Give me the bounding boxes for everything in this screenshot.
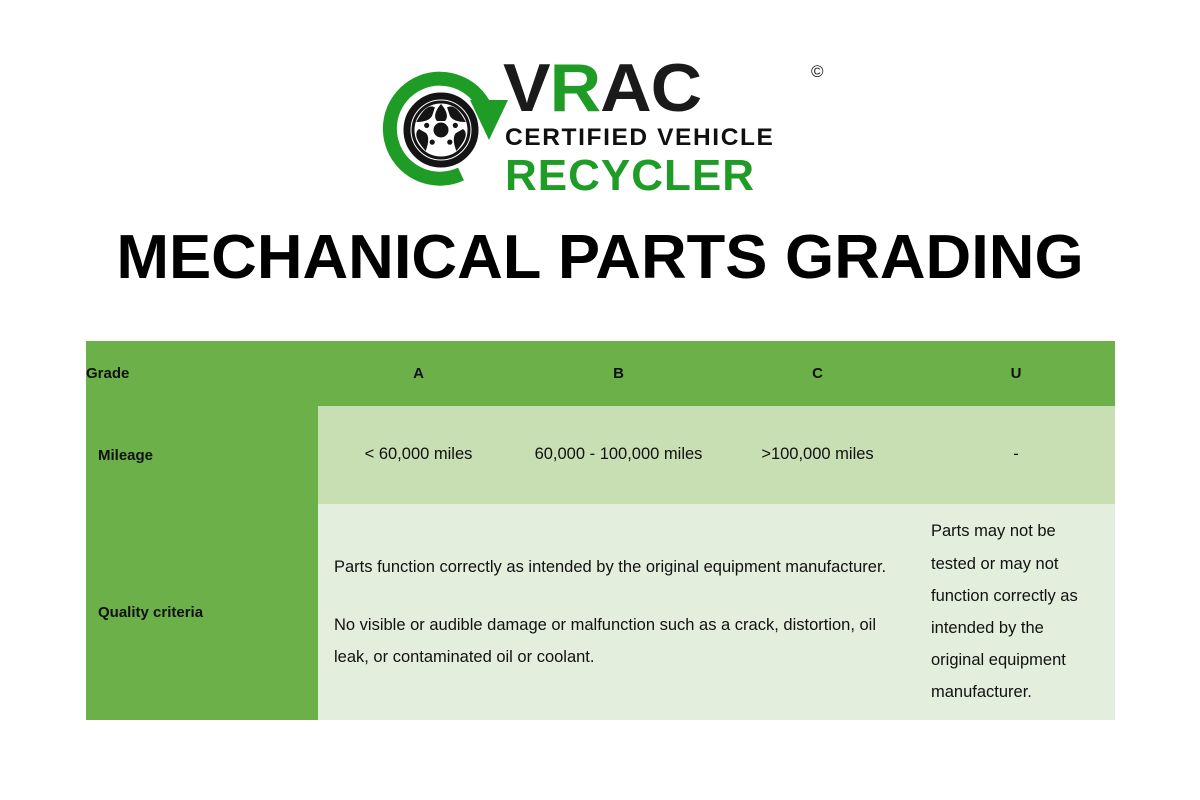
page-title: MECHANICAL PARTS GRADING xyxy=(0,222,1200,293)
table-row-quality-criteria: Quality criteria Parts function correctl… xyxy=(86,504,1115,720)
copyright-icon: © xyxy=(811,62,824,82)
header-cell-c: C xyxy=(718,341,917,406)
header-cell-b: B xyxy=(519,341,718,406)
row-label-mileage: Mileage xyxy=(86,406,318,504)
row-label-quality-criteria: Quality criteria xyxy=(86,504,318,720)
logo-recycler-text: RECYCLER xyxy=(505,151,755,201)
recycling-wheel-icon xyxy=(375,60,510,195)
vrac-wordmark: VRAC © CERTIFIED VEHICLE RECYCLER xyxy=(503,52,848,202)
wordmark-letter-r: R xyxy=(550,50,601,126)
wordmark-letters-ac: AC xyxy=(600,50,701,126)
mileage-cell-c: >100,000 miles xyxy=(718,406,917,504)
vrac-logo: VRAC © CERTIFIED VEHICLE RECYCLER xyxy=(375,52,845,202)
mileage-cell-a: < 60,000 miles xyxy=(318,406,519,504)
header-cell-u: U xyxy=(917,341,1115,406)
wordmark-letter-v: V xyxy=(503,50,550,126)
quality-cell-u: Parts may not be tested or may not funct… xyxy=(917,504,1115,720)
header-cell-a: A xyxy=(318,341,519,406)
wordmark-vrac: VRAC xyxy=(503,54,701,122)
mechanical-parts-grading-table: Grade A B C U Mileage < 60,000 miles 60,… xyxy=(86,341,1115,720)
logo-tagline: CERTIFIED VEHICLE xyxy=(505,124,775,152)
quality-paragraph-1: Parts function correctly as intended by … xyxy=(334,551,901,583)
table-header-row: Grade A B C U xyxy=(86,341,1115,406)
table-row-mileage: Mileage < 60,000 miles 60,000 - 100,000 … xyxy=(86,406,1115,504)
header-cell-grade: Grade xyxy=(86,341,318,406)
mileage-cell-b: 60,000 - 100,000 miles xyxy=(519,406,718,504)
mileage-cell-u: - xyxy=(917,406,1115,504)
quality-paragraph-2: No visible or audible damage or malfunct… xyxy=(334,609,901,673)
quality-cell-abc: Parts function correctly as intended by … xyxy=(318,504,917,720)
